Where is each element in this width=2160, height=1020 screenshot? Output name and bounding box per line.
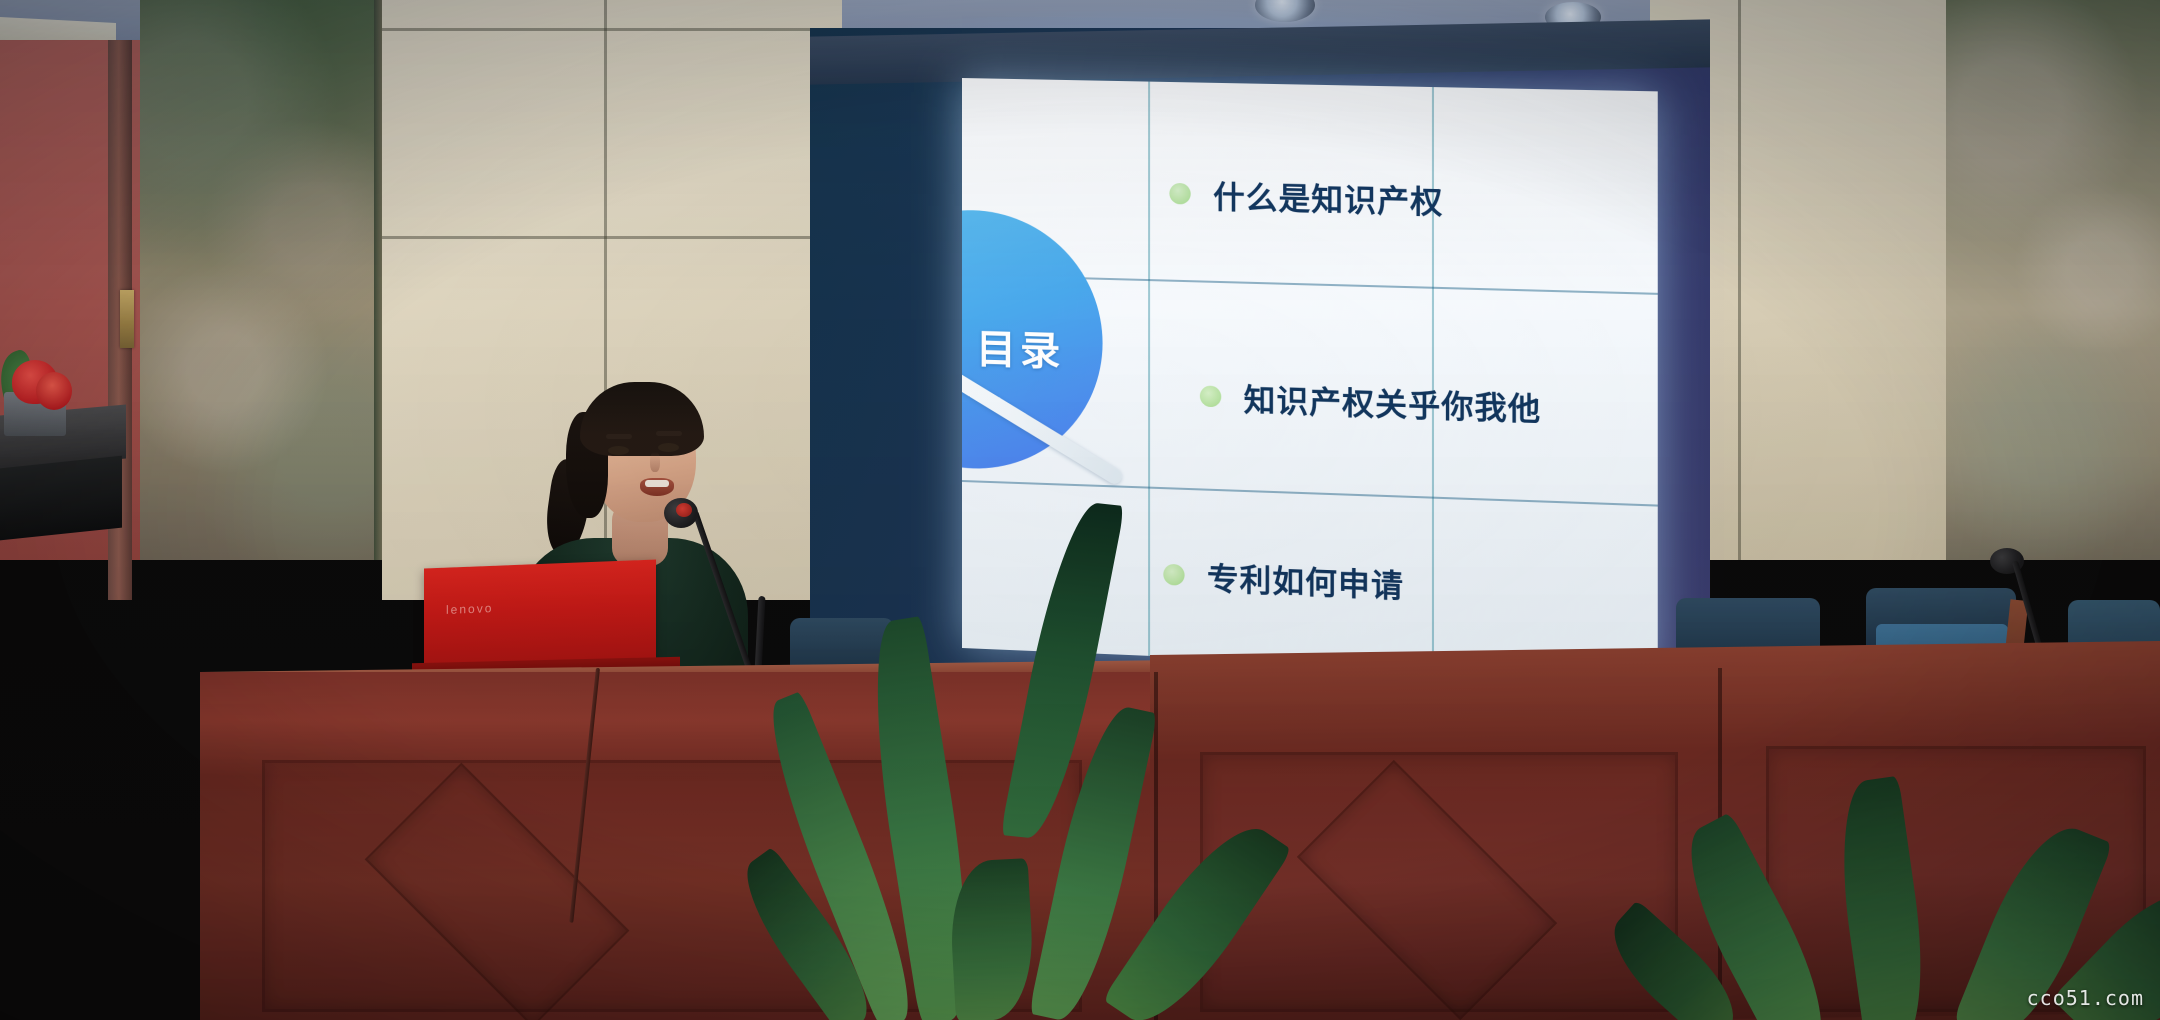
bullet-label-1: 什么是知识产权: [1213, 172, 1443, 223]
conference-hall-photo: 目录 什么是知识产权 知识产权关乎你我他 专利如何申请: [0, 0, 2160, 1020]
bullet-dot-icon: [1200, 385, 1221, 407]
column-edge-left: [374, 0, 382, 560]
bullet-dot-icon: [1169, 183, 1190, 205]
list-item[interactable]: 专利如何申请: [1163, 552, 1404, 607]
door-hinge-icon: [120, 290, 134, 348]
bullet-label-2: 知识产权关乎你我他: [1244, 375, 1542, 430]
stone-column-right: [1946, 0, 2160, 560]
presenter-eye-right: [658, 443, 679, 452]
presenter-brow-left: [606, 434, 632, 439]
laptop-brand-label: lenovo: [446, 601, 493, 617]
watermark: cco51.com: [2027, 986, 2144, 1010]
stone-column-left: [140, 0, 380, 560]
presenter-teeth: [645, 480, 669, 487]
presenter-eye-left: [608, 446, 629, 455]
presenter-nose: [650, 452, 660, 472]
bullet-label-3: 专利如何申请: [1207, 553, 1404, 606]
list-item[interactable]: 什么是知识产权: [1169, 171, 1443, 223]
wall-panel-seam-v1: [604, 0, 607, 600]
wall-panel-seam-h1: [382, 236, 842, 239]
list-item[interactable]: 知识产权关乎你我他: [1200, 373, 1541, 430]
wall-shelf-lower: [0, 456, 122, 541]
wall-panel-seam-h2: [382, 28, 842, 31]
red-flower-2: [36, 372, 72, 410]
wall-panel-seam-right-v: [1738, 0, 1741, 560]
microphone-pop-filter: [676, 503, 692, 517]
bullet-dot-icon: [1163, 564, 1184, 586]
presenter-brow-right: [656, 431, 682, 436]
